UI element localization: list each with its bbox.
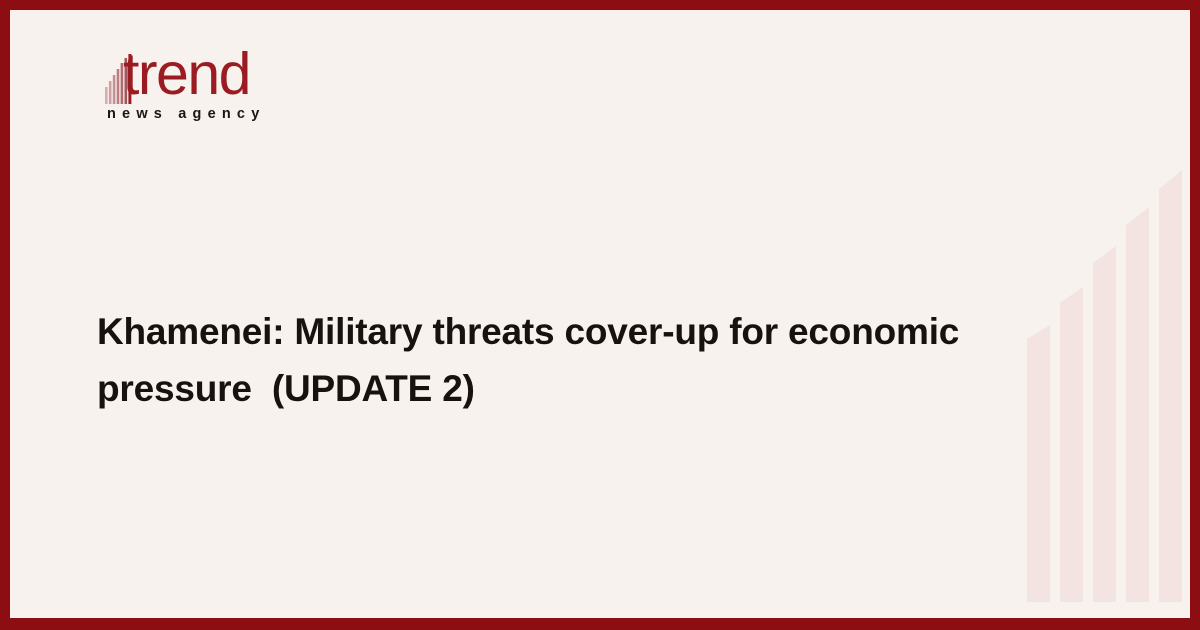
- decorative-bar: [1027, 325, 1050, 602]
- logo-wordmark: trend: [123, 45, 250, 104]
- ascending-bars-graphic: [1027, 160, 1182, 602]
- logo-tagline: news agency: [107, 106, 265, 122]
- decorative-bar: [1159, 170, 1182, 602]
- social-share-card: trend news agency Khamenei: Military thr…: [0, 0, 1200, 630]
- headline-text: Khamenei: Military threats cover-up for …: [97, 303, 997, 417]
- decorative-bar: [1060, 287, 1083, 602]
- logo-lockup: trend: [97, 48, 397, 104]
- brand-logo[interactable]: trend news agency: [97, 48, 397, 140]
- decorative-bar: [1126, 207, 1149, 602]
- decorative-bar: [1093, 246, 1116, 602]
